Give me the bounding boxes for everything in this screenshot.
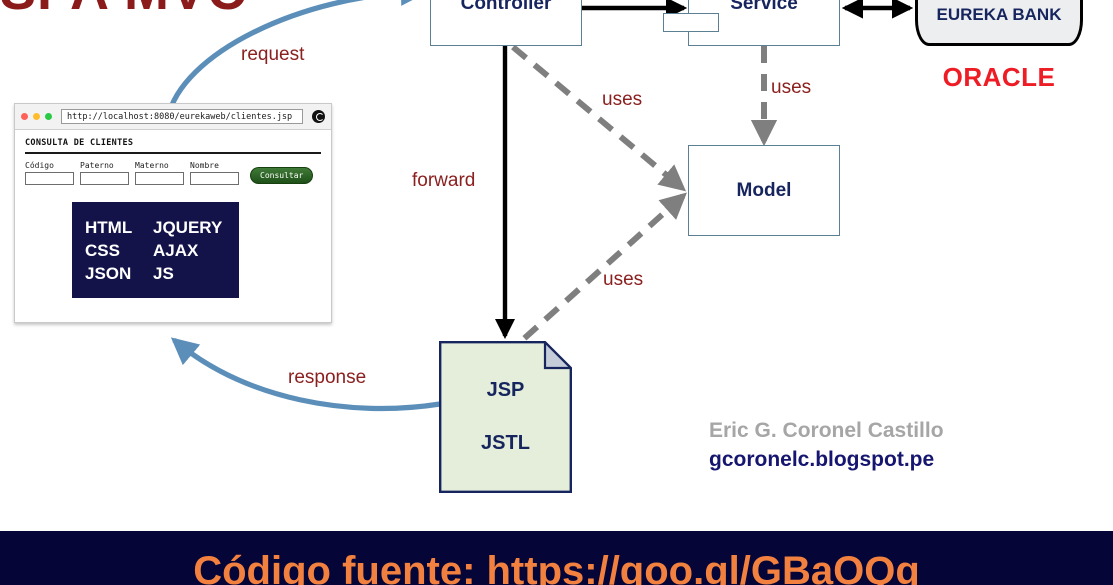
tech-row: CSS AJAX xyxy=(85,239,239,262)
reload-icon[interactable] xyxy=(312,110,325,123)
arrow-uses-jsp-model xyxy=(518,196,683,344)
tech-html-label: HTML xyxy=(85,216,153,239)
browser-window-mockup[interactable]: http://localhost:8080/eurekaweb/clientes… xyxy=(14,103,332,323)
footer-banner: Código fuente: https://goo.gl/GBaOQg xyxy=(0,531,1113,585)
browser-viewport: CONSULTA DE CLIENTES Código Paterno Mate… xyxy=(15,130,331,185)
field-materno: Materno xyxy=(135,161,184,185)
edge-label-uses-controller-model: uses xyxy=(602,89,642,111)
database-label-line1: Base de Datos xyxy=(940,0,1057,2)
field-nombre-input[interactable] xyxy=(190,172,239,185)
tech-row: HTML JQUERY xyxy=(85,216,239,239)
page-heading: CONSULTA DE CLIENTES xyxy=(25,138,321,148)
edge-label-response: response xyxy=(288,367,366,389)
edge-label-uses-service-model: uses xyxy=(771,77,811,99)
address-bar-input[interactable]: http://localhost:8080/eurekaweb/clientes… xyxy=(61,109,303,124)
field-paterno-input[interactable] xyxy=(80,172,129,185)
field-materno-input[interactable] xyxy=(135,172,184,185)
close-icon[interactable] xyxy=(21,113,28,120)
node-jsp-document-icon[interactable] xyxy=(439,341,572,493)
edge-label-forward: forward xyxy=(412,170,475,192)
heading-divider xyxy=(25,152,321,154)
tech-css-label: CSS xyxy=(85,239,153,262)
client-search-form: Código Paterno Materno Nombre Consultar xyxy=(25,161,321,185)
field-materno-label: Materno xyxy=(135,161,184,170)
node-model-label: Model xyxy=(737,180,792,202)
field-nombre: Nombre xyxy=(190,161,239,185)
node-service-interface-port xyxy=(663,13,719,32)
page-title-cropped: SPA MVC xyxy=(0,0,300,20)
node-controller-label: Controller xyxy=(461,0,552,15)
tech-json-label: JSON xyxy=(85,262,153,285)
author-blog-url[interactable]: gcoronelc.blogspot.pe xyxy=(709,448,934,472)
maximize-icon[interactable] xyxy=(45,113,52,120)
database-label-line2: EUREKA BANK xyxy=(915,4,1083,26)
arrow-uses-controller-model xyxy=(513,47,682,188)
browser-titlebar: http://localhost:8080/eurekaweb/clientes… xyxy=(15,104,331,130)
minimize-icon[interactable] xyxy=(33,113,40,120)
node-controller[interactable]: Controller xyxy=(430,0,582,46)
field-paterno: Paterno xyxy=(80,161,129,185)
node-model[interactable]: Model xyxy=(688,145,840,236)
tech-ajax-label: AJAX xyxy=(153,239,198,262)
field-paterno-label: Paterno xyxy=(80,161,129,170)
field-codigo-input[interactable] xyxy=(25,172,74,185)
edge-label-uses-jsp-model: uses xyxy=(603,269,643,291)
technology-stack-panel: HTML JQUERY CSS AJAX JSON JS xyxy=(72,202,239,298)
database-label: Base de Datos EUREKA BANK xyxy=(915,0,1083,26)
footer-source-link[interactable]: Código fuente: https://goo.gl/GBaOQg xyxy=(0,549,1113,585)
tech-jquery-label: JQUERY xyxy=(153,216,222,239)
tech-row: JSON JS xyxy=(85,262,239,285)
field-nombre-label: Nombre xyxy=(190,161,239,170)
node-service-label: Service xyxy=(730,0,798,15)
edge-label-request: request xyxy=(241,44,304,66)
database-vendor-label: ORACLE xyxy=(915,62,1083,93)
tech-js-label: JS xyxy=(153,262,174,285)
field-codigo: Código xyxy=(25,161,74,185)
consultar-button[interactable]: Consultar xyxy=(250,167,313,184)
author-name: Eric G. Coronel Castillo xyxy=(709,419,944,443)
diagram-canvas: SPA MVC Cont xyxy=(0,0,1113,585)
field-codigo-label: Código xyxy=(25,161,74,170)
